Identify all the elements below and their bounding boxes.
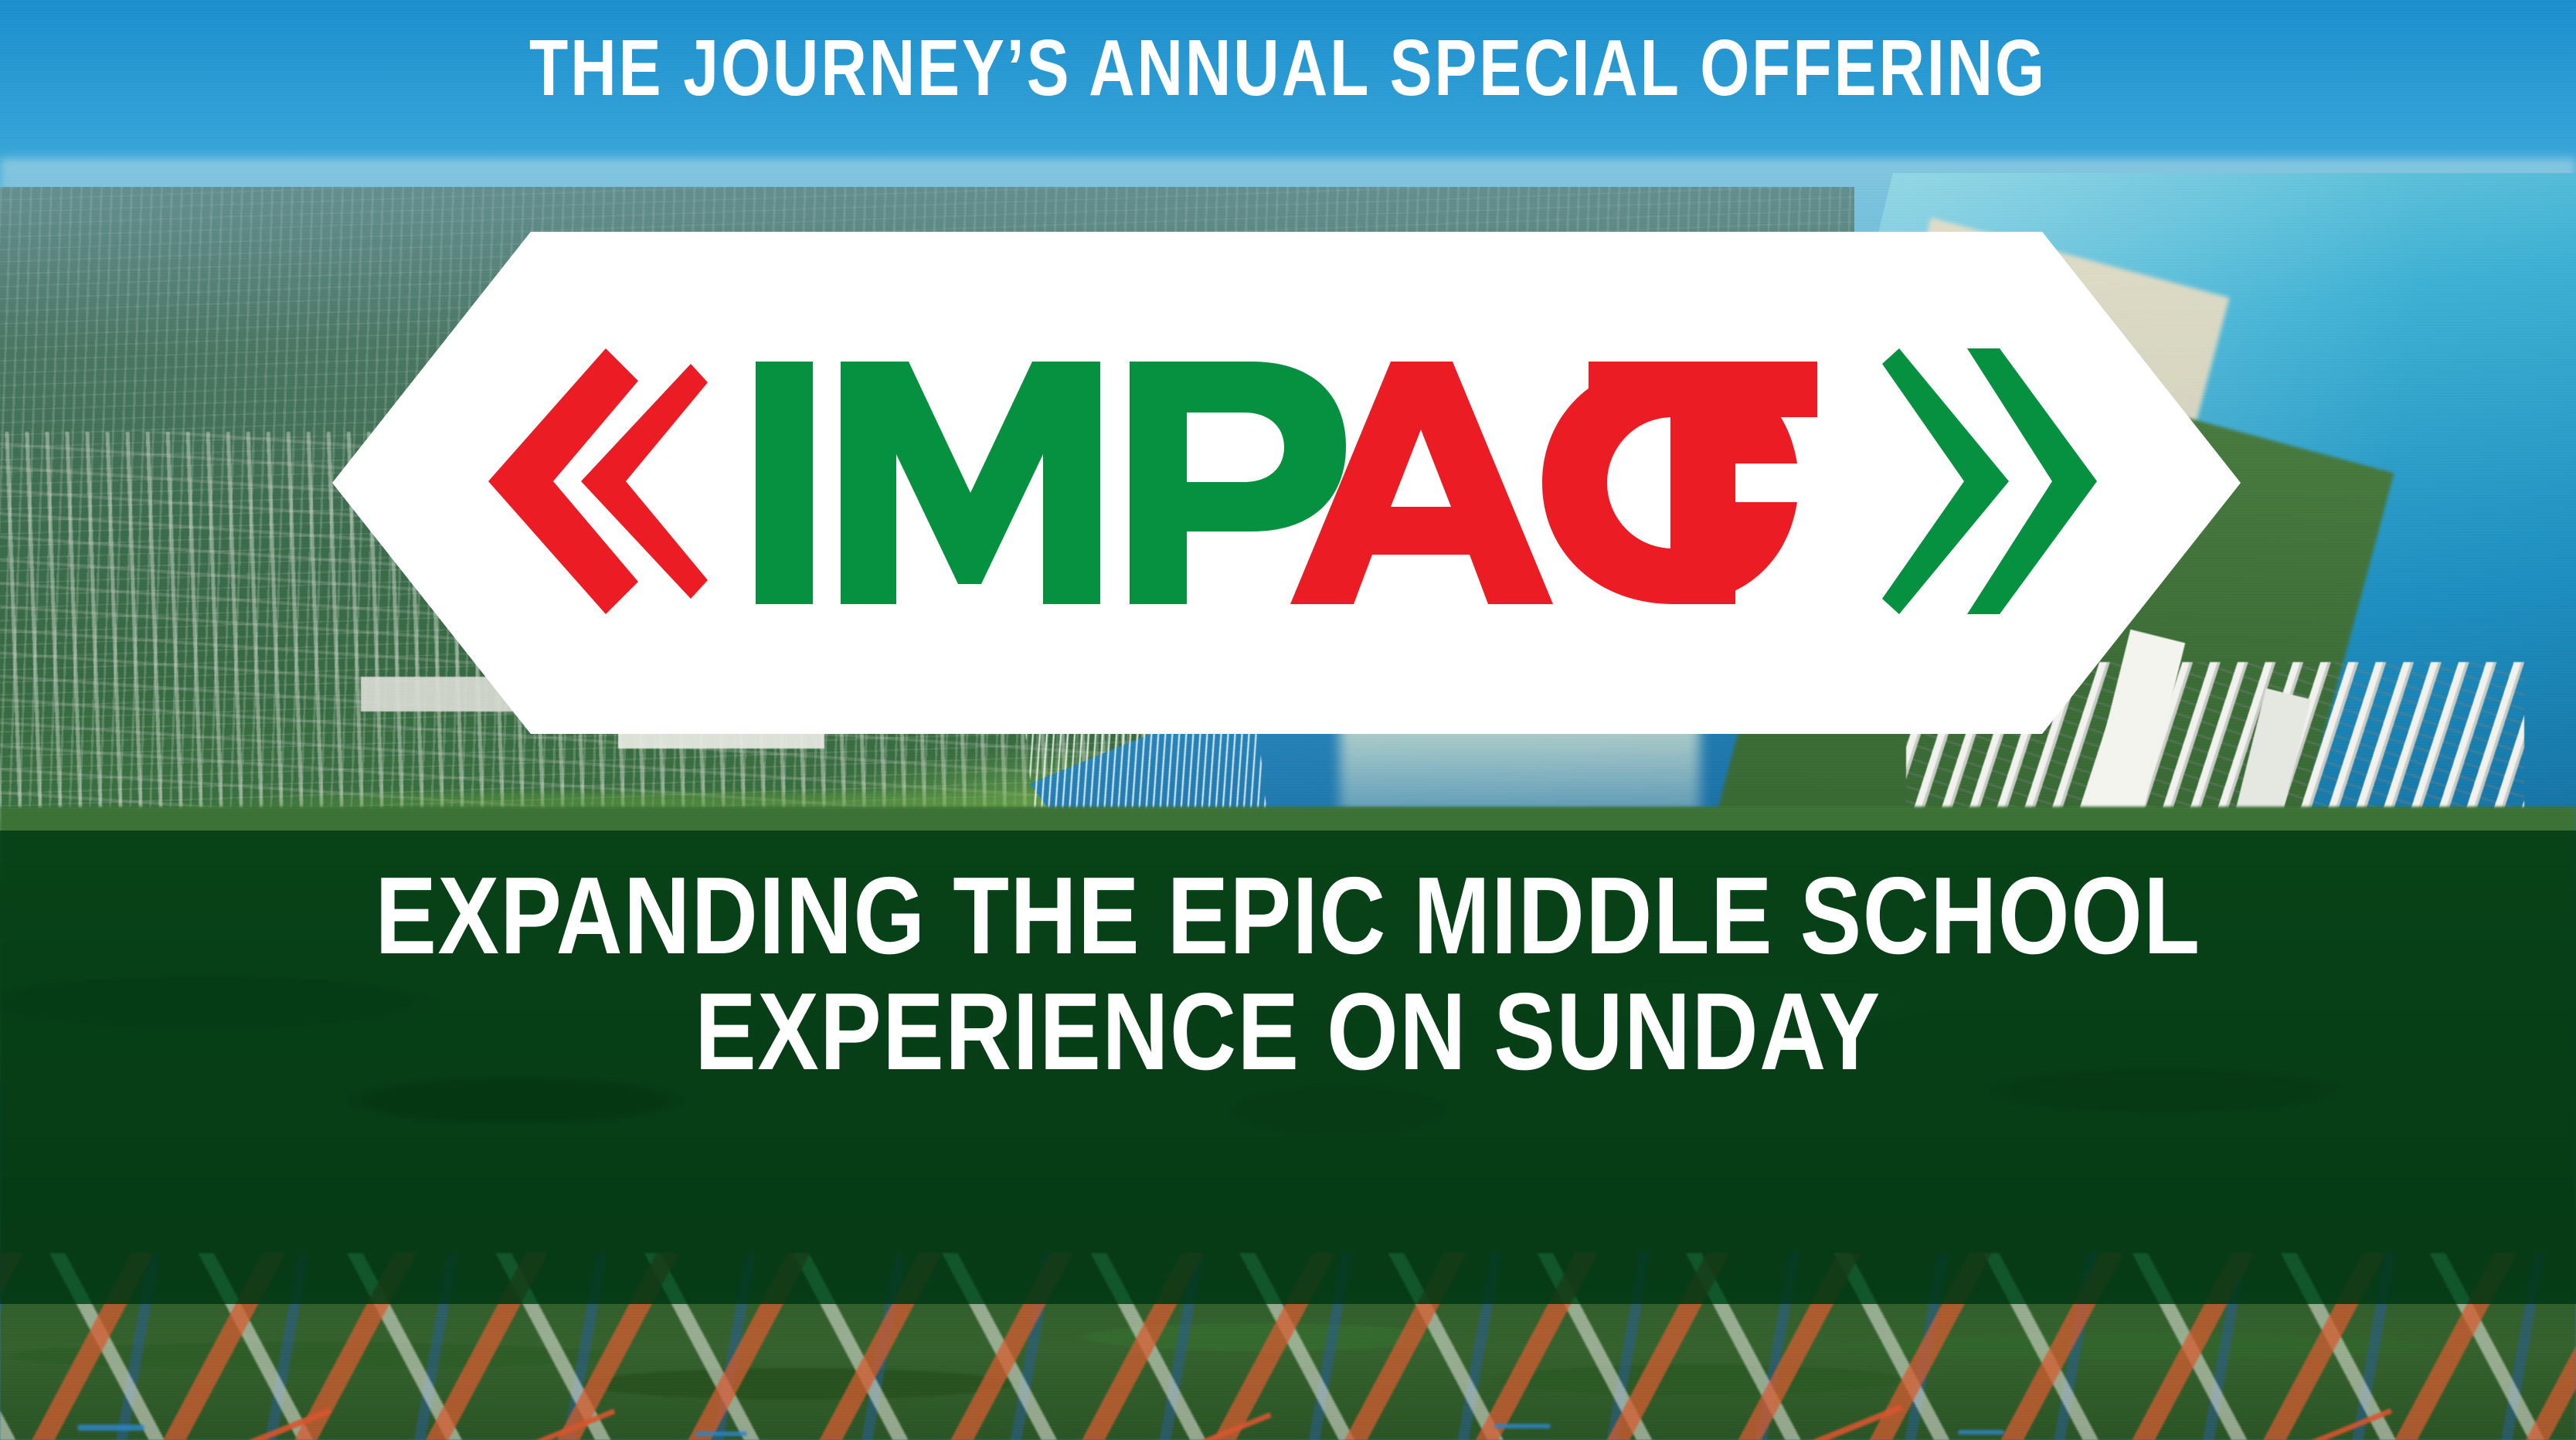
double-chevron-left-icon <box>476 342 708 624</box>
terracotta-roof <box>209 1408 331 1440</box>
terracotta-roof <box>518 1408 615 1440</box>
swimming-pool <box>1958 1430 2004 1435</box>
swimming-pool <box>1494 1424 1551 1429</box>
swimming-pool <box>695 1432 747 1436</box>
impact-logo <box>332 232 2241 734</box>
tagline-line-1: EXPANDING THE EPIC MIDDLE SCHOOL <box>206 864 2370 969</box>
kicker-headline: THE JOURNEY’S ANNUAL SPECIAL OFFERING <box>257 28 2318 107</box>
tagline-line-2: EXPERIENCE ON SUNDAY <box>206 980 2370 1085</box>
terracotta-roof <box>1162 1412 1272 1440</box>
impact-promo-poster: THE JOURNEY’S ANNUAL SPECIAL OFFERING <box>0 0 2576 1440</box>
terracotta-roof <box>2271 1408 2392 1440</box>
impact-wordmark <box>749 355 1823 610</box>
double-chevron-right-icon <box>1865 342 2097 624</box>
tagline: EXPANDING THE EPIC MIDDLE SCHOOL EXPERIE… <box>0 864 2576 1085</box>
wordmark-act <box>1290 362 1817 604</box>
swimming-pool <box>77 1425 144 1431</box>
wordmark-imp <box>756 362 1346 604</box>
terracotta-roof <box>1781 1404 1902 1440</box>
